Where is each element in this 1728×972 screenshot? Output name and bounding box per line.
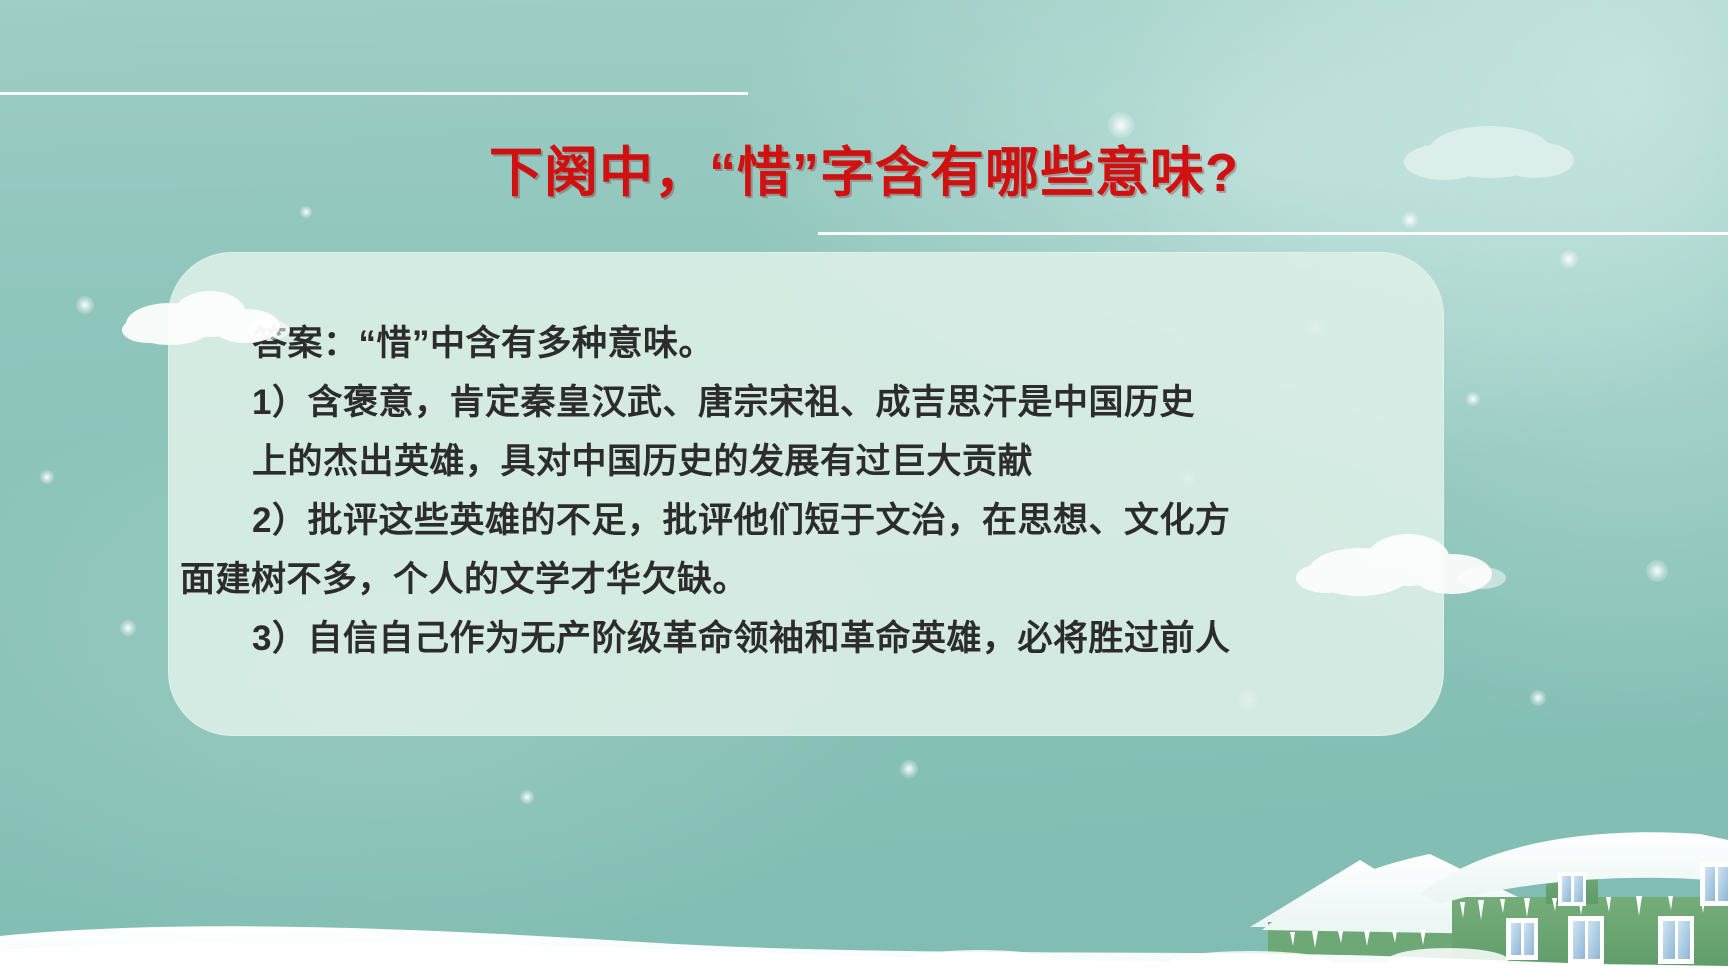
answer-line: 答案：“惜”中含有多种意味。 xyxy=(180,314,1404,373)
answer-card: 答案：“惜”中含有多种意味。 1）含褒意，肯定秦皇汉武、唐宗宋祖、成吉思汗是中国… xyxy=(168,252,1444,736)
answer-line: 1）含褒意，肯定秦皇汉武、唐宗宋祖、成吉思汗是中国历史 xyxy=(180,373,1404,432)
mid-right-divider xyxy=(818,232,1728,235)
page-title: 下阕中，“惜”字含有哪些意味? xyxy=(0,128,1728,207)
top-left-divider xyxy=(0,92,748,95)
answer-line: 上的杰出英雄，具对中国历史的发展有过巨大贡献 xyxy=(180,432,1404,491)
answer-line: 2）批评这些英雄的不足，批评他们短于文治，在思想、文化方 xyxy=(180,491,1404,550)
answer-line: 3）自信自己作为无产阶级革命领袖和革命英雄，必将胜过前人 xyxy=(180,609,1404,668)
answer-body: 答案：“惜”中含有多种意味。 1）含褒意，肯定秦皇汉武、唐宗宋祖、成吉思汗是中国… xyxy=(180,314,1404,668)
answer-line: 面建树不多，个人的文学才华欠缺。 xyxy=(180,550,1404,609)
slide-canvas: 下阕中，“惜”字含有哪些意味? 答案：“惜”中含有多种意味。 1）含褒意，肯定秦… xyxy=(0,0,1728,972)
